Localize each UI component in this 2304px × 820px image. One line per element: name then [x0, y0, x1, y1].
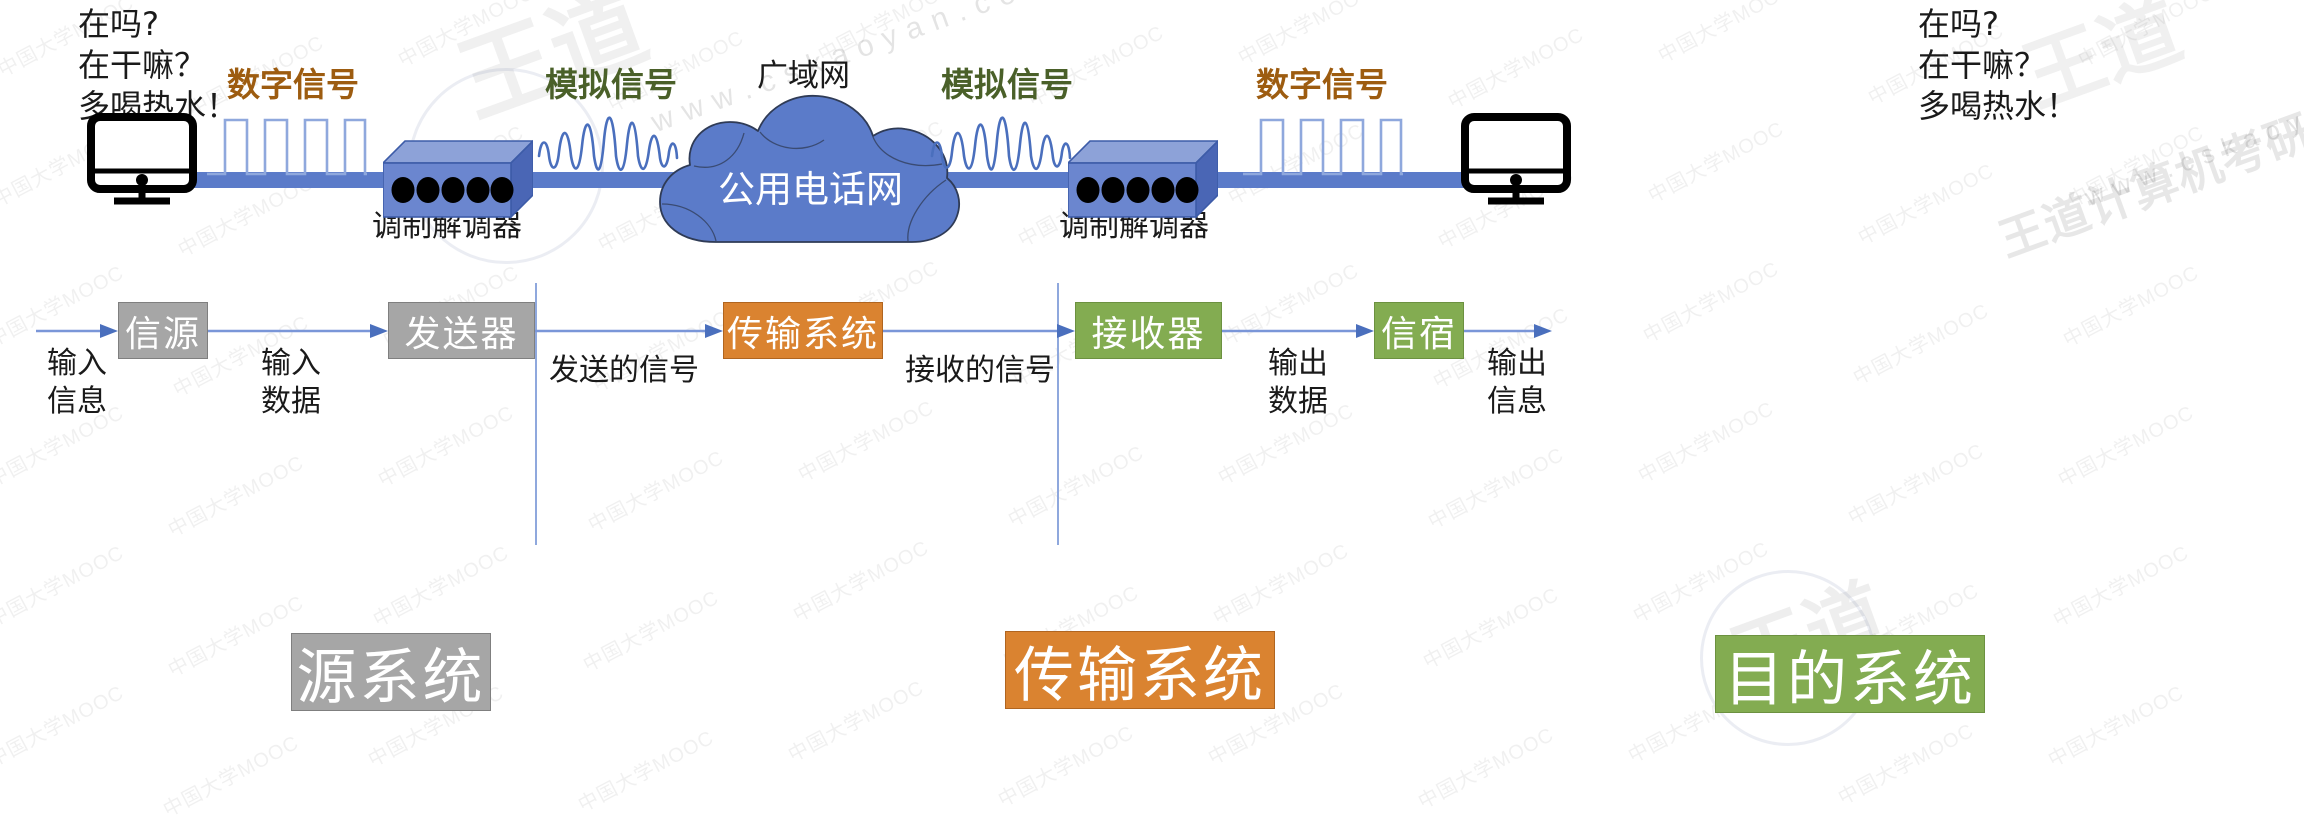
label-analog-signal-left: 模拟信号 — [545, 58, 677, 106]
edge-label-input-data-line-1: 输入 — [248, 345, 334, 383]
system-tag-transmission-label: 传输系统 — [1014, 627, 1266, 714]
edge-label-output-information: 输出 信息 — [1474, 345, 1560, 421]
message-right-line-1: 在吗? — [1918, 4, 2078, 45]
system-tag-destination[interactable]: 目的系统 — [1715, 635, 1985, 713]
computer-monitor-right — [1460, 113, 1572, 205]
watermark-mooc: 中国大学MOOC — [787, 531, 933, 627]
watermark-mooc: 中国大学MOOC — [582, 441, 728, 537]
flow-box-destination-label: 信宿 — [1381, 305, 1457, 357]
watermark-mooc: 中国大学MOOC — [2052, 396, 2198, 492]
watermark-mooc: 中国大学MOOC — [577, 581, 723, 677]
flow-box-source-label: 信源 — [125, 305, 201, 357]
edge-label-output-data: 输出 数据 — [1255, 345, 1341, 421]
watermark-mooc: 中国大学MOOC — [2062, 116, 2208, 212]
flow-box-transmission-label: 传输系统 — [727, 305, 879, 357]
label-digital-signal-left: 数字信号 — [227, 58, 359, 106]
watermark-mooc: 中国大学MOOC — [792, 391, 938, 487]
message-left: 在吗? 在干嘛？ 多喝热水！ — [78, 4, 238, 127]
modem-left — [383, 137, 533, 225]
system-tag-transmission[interactable]: 传输系统 — [1005, 631, 1275, 709]
watermark-mooc: 中国大学MOOC — [1637, 252, 1783, 348]
watermark-mooc: 中国大学MOOC — [1832, 714, 1978, 810]
flow-box-receiver-label: 接收器 — [1091, 305, 1205, 357]
watermark-mooc: 中国大学MOOC — [1627, 532, 1773, 628]
watermark-mooc: 中国大学MOOC — [0, 676, 128, 772]
watermark-mooc: 中国大学MOOC — [1422, 438, 1568, 534]
edge-label-output-information-line-2: 信息 — [1474, 383, 1560, 421]
watermark-mooc: 中国大学MOOC — [0, 536, 128, 632]
message-left-line-1: 在吗? — [78, 4, 238, 45]
diagram-canvas: 中国大学MOOC 中国大学MOOC 中国大学MOOC 中国大学MOOC 中国大学… — [0, 0, 2304, 820]
edge-label-input-information-line-2: 信息 — [34, 383, 120, 421]
watermark-mooc: 中国大学MOOC — [1442, 18, 1588, 114]
label-analog-signal-right: 模拟信号 — [941, 58, 1073, 106]
computer-monitor-left — [86, 113, 198, 205]
edge-label-output-information-line-1: 输出 — [1474, 345, 1560, 383]
watermark-mooc: 中国大学MOOC — [1652, 0, 1798, 69]
message-right-line-2: 在干嘛？ — [1918, 45, 2078, 86]
watermark-mooc: 中国大学MOOC — [782, 671, 928, 767]
watermark-mooc: 中国大学MOOC — [1417, 578, 1563, 674]
system-tag-source-label: 源系统 — [297, 629, 486, 716]
edge-label-output-data-line-1: 输出 — [1255, 345, 1341, 383]
message-right: 在吗? 在干嘛？ 多喝热水！ — [1918, 4, 2078, 127]
arrow-output-data — [1222, 320, 1374, 342]
edge-label-input-information: 输入 信息 — [34, 345, 120, 421]
watermark-mooc: 中国大学MOOC — [157, 726, 303, 820]
flow-box-receiver[interactable]: 接收器 — [1075, 302, 1222, 359]
watermark-mooc: 中国大学MOOC — [572, 721, 718, 817]
edge-label-input-data: 输入 数据 — [248, 345, 334, 421]
watermark-mooc: 中国大学MOOC — [367, 536, 513, 632]
watermark-mooc: 中国大学MOOC — [372, 396, 518, 492]
edge-label-sent-signal: 发送的信号 — [549, 352, 699, 390]
watermark-mooc: 中国大学MOOC — [1842, 434, 1988, 530]
edge-label-received-signal: 接收的信号 — [905, 352, 1055, 390]
watermark-mooc: 中国大学MOOC — [162, 586, 308, 682]
flow-box-transmitter-label: 发送器 — [404, 305, 518, 357]
system-tag-destination-label: 目的系统 — [1724, 631, 1976, 718]
system-tag-source[interactable]: 源系统 — [291, 633, 491, 711]
edge-label-input-information-line-1: 输入 — [34, 345, 120, 383]
flow-box-source[interactable]: 信源 — [118, 302, 208, 359]
watermark-mooc: 中国大学MOOC — [2047, 536, 2193, 632]
label-public-telephone-network: 公用电话网 — [718, 159, 903, 213]
edge-label-output-data-line-2: 数据 — [1255, 383, 1341, 421]
watermark-mooc: 中国大学MOOC — [162, 446, 308, 542]
waveform-analog-right — [930, 100, 1072, 182]
flow-box-destination[interactable]: 信宿 — [1374, 302, 1464, 359]
label-wan: 广域网 — [757, 57, 850, 95]
watermark-mooc: 中国大学MOOC — [992, 716, 1138, 812]
edge-label-input-data-line-2: 数据 — [248, 383, 334, 421]
watermark-mooc: 中国大学MOOC — [1412, 718, 1558, 814]
watermark-mooc: 中国大学MOOC — [1632, 392, 1778, 488]
message-right-line-3: 多喝热水！ — [1918, 86, 2078, 127]
arrow-input-data — [208, 320, 388, 342]
watermark-mooc: 中国大学MOOC — [392, 0, 538, 73]
watermark-mooc: 中国大学MOOC — [1207, 534, 1353, 630]
waveform-digital-left — [207, 110, 367, 182]
watermark-mooc: 中国大学MOOC — [2057, 256, 2203, 352]
watermark-mooc: 中国大学MOOC — [1852, 154, 1998, 250]
arrow-output-information — [1464, 320, 1552, 342]
flow-box-transmitter[interactable]: 发送器 — [388, 302, 535, 359]
watermark-mooc: 中国大学MOOC — [2042, 676, 2188, 772]
watermark-mooc: 中国大学MOOC — [1847, 294, 1993, 390]
waveform-analog-left — [537, 100, 679, 182]
waveform-digital-right — [1243, 110, 1403, 182]
arrow-sent-signal — [535, 320, 723, 342]
flow-box-transmission[interactable]: 传输系统 — [723, 302, 883, 359]
message-left-line-2: 在干嘛？ — [78, 45, 238, 86]
modem-right — [1068, 137, 1218, 225]
watermark-mooc: 中国大学MOOC — [1002, 436, 1148, 532]
label-digital-signal-right: 数字信号 — [1256, 58, 1388, 106]
watermark-site-right: w w w . c s k a o y a n . c o m — [2081, 58, 2304, 213]
arrow-received-signal — [883, 320, 1075, 342]
arrow-input-information — [36, 320, 118, 342]
watermark-mooc: 中国大学MOOC — [2072, 0, 2218, 73]
watermark-mooc: 中国大学MOOC — [1642, 112, 1788, 208]
